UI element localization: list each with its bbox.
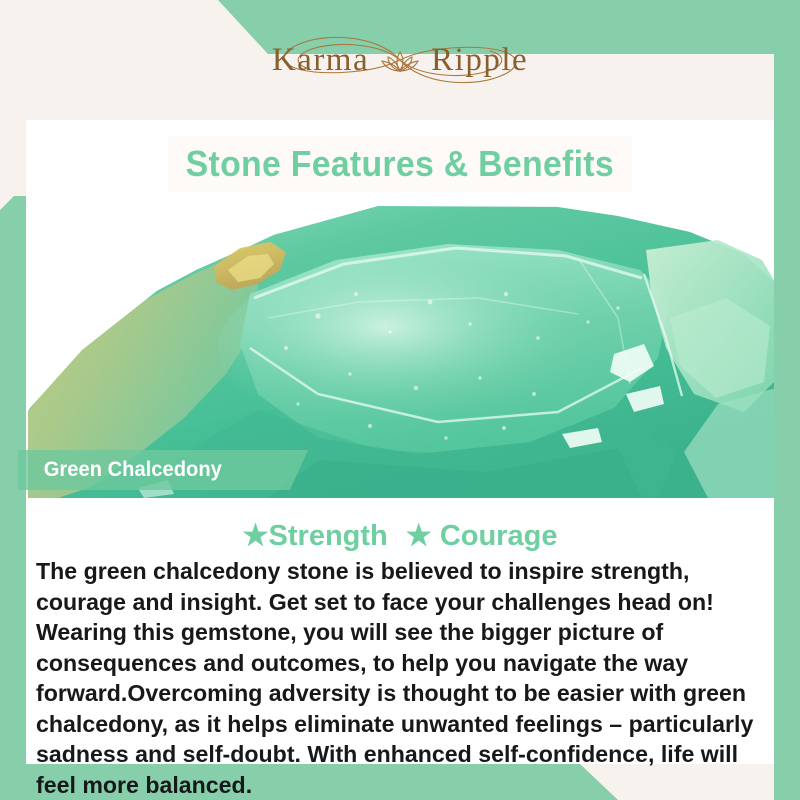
stone-caption-text: Green Chalcedony — [44, 458, 222, 482]
brand-logo: Karma Ripple — [0, 0, 800, 120]
star-icon: ★ — [406, 520, 432, 552]
lotus-icon — [380, 48, 420, 74]
keyword-strength-label: Strength — [269, 520, 388, 552]
decor-right-bar — [774, 0, 800, 800]
stone-caption-ribbon: Green Chalcedony — [18, 450, 308, 490]
keyword-row: ★Strength★ Courage — [26, 518, 774, 553]
infographic-canvas: Karma Ripple Stone Features & Benefits — [0, 0, 800, 800]
keyword-courage-label: Courage — [440, 520, 558, 552]
brand-name-left: Karma — [272, 44, 369, 77]
decor-left-bar — [0, 196, 26, 800]
body-paragraph: The green chalcedony stone is believed t… — [36, 556, 765, 800]
brand-name-right: Ripple — [431, 44, 528, 77]
brand-logo-lockup: Karma Ripple — [250, 29, 550, 91]
keyword-courage: ★ Courage — [406, 518, 558, 553]
title-banner: Stone Features & Benefits — [168, 136, 632, 192]
page-title: Stone Features & Benefits — [186, 143, 614, 185]
keyword-strength: ★Strength — [243, 518, 388, 553]
star-icon: ★ — [243, 520, 269, 552]
